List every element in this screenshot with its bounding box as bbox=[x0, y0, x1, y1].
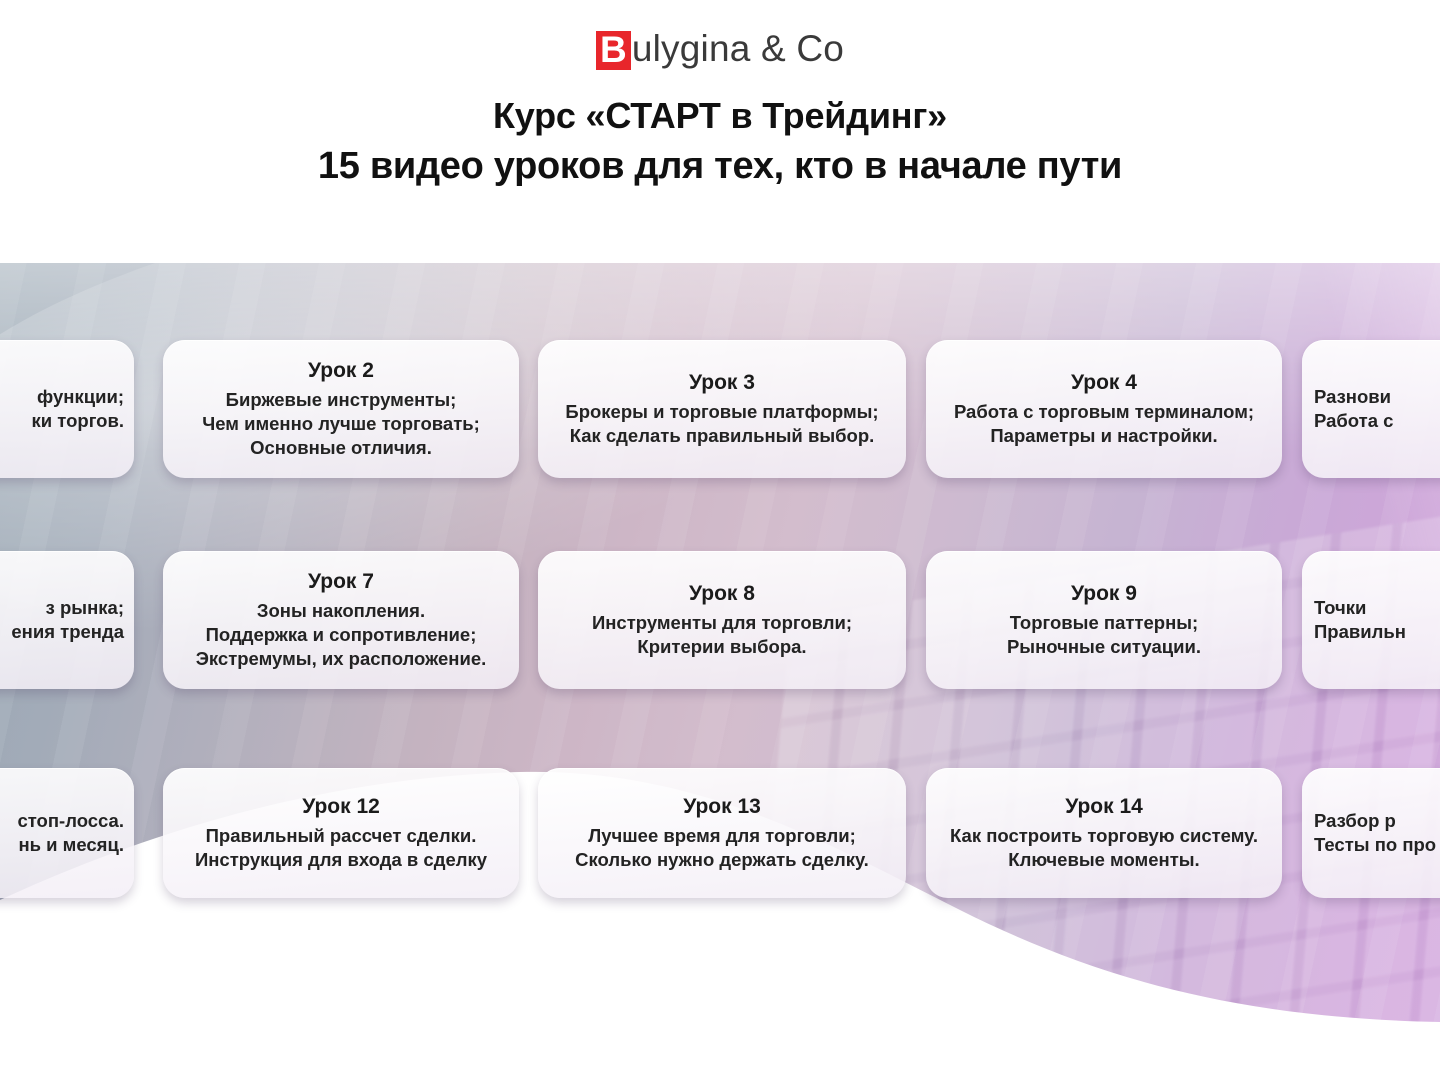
lesson-card-line: Инструкция для входа в сделку bbox=[195, 848, 487, 872]
lesson-card-line: Как сделать правильный выбор. bbox=[570, 424, 875, 448]
page-header: Bulygina & Co Курс «СТАРТ в Трейдинг» 15… bbox=[0, 0, 1440, 263]
lesson-card-title: Урок 3 bbox=[689, 370, 755, 396]
course-title: Курс «СТАРТ в Трейдинг» bbox=[0, 93, 1440, 140]
brand-name: ulygina & Co bbox=[632, 28, 844, 69]
lesson-card-line: Критерии выбора. bbox=[637, 635, 806, 659]
lesson-card[interactable]: Урок 2 Биржевые инструменты; Чем именно … bbox=[163, 340, 519, 478]
lesson-card-line: Как построить торговую систему. bbox=[950, 824, 1258, 848]
lesson-card-line: з рынка; bbox=[46, 596, 124, 620]
lesson-card[interactable]: Урок 13 Лучшее время для торговли; Сколь… bbox=[538, 768, 906, 898]
brand-logo: Bulygina & Co bbox=[596, 30, 844, 69]
lesson-card[interactable]: Урок 8 Инструменты для торговли; Критери… bbox=[538, 551, 906, 689]
lesson-card-line: ки торгов. bbox=[32, 409, 124, 433]
lesson-card-line: Поддержка и сопротивление; bbox=[206, 623, 477, 647]
lesson-card-line: Сколько нужно держать сделку. bbox=[575, 848, 869, 872]
lesson-card-grid: функции; ки торгов. Урок 2 Биржевые инст… bbox=[0, 263, 1440, 1080]
lesson-card-line: ения тренда bbox=[11, 620, 124, 644]
lesson-card-title: Урок 4 bbox=[1071, 370, 1137, 396]
lesson-card-line: Правильн bbox=[1314, 620, 1406, 644]
lesson-card[interactable]: функции; ки торгов. bbox=[0, 340, 134, 478]
lesson-card[interactable]: Урок 7 Зоны накопления. Поддержка и сопр… bbox=[163, 551, 519, 689]
lesson-card-line: Экстремумы, их расположение. bbox=[196, 647, 487, 671]
lesson-card-line: Правильный рассчет сделки. bbox=[206, 824, 477, 848]
brand-initial-badge: B bbox=[596, 31, 631, 70]
lesson-card[interactable]: Точки Правильн bbox=[1302, 551, 1440, 689]
lesson-card[interactable]: Урок 3 Брокеры и торговые платформы; Как… bbox=[538, 340, 906, 478]
lesson-card[interactable]: Урок 12 Правильный рассчет сделки. Инстр… bbox=[163, 768, 519, 898]
lesson-card-title: Урок 7 bbox=[308, 569, 374, 595]
lesson-card[interactable]: Разнови Работа с bbox=[1302, 340, 1440, 478]
lesson-card-title: Урок 13 bbox=[683, 794, 761, 820]
lesson-card-line: Рыночные ситуации. bbox=[1007, 635, 1201, 659]
lesson-card[interactable]: стоп-лосса. нь и месяц. bbox=[0, 768, 134, 898]
lesson-card-line: Основные отличия. bbox=[250, 436, 432, 460]
lesson-card-line: нь и месяц. bbox=[18, 833, 124, 857]
lesson-card[interactable]: Урок 14 Как построить торговую систему. … bbox=[926, 768, 1282, 898]
lesson-card-title: Урок 9 bbox=[1071, 581, 1137, 607]
lesson-card-line: Точки bbox=[1314, 596, 1366, 620]
lesson-card-line: Тесты по про bbox=[1314, 833, 1436, 857]
lesson-card-line: Брокеры и торговые платформы; bbox=[565, 400, 878, 424]
lesson-card[interactable]: Разбор р Тесты по про bbox=[1302, 768, 1440, 898]
lesson-card-line: Торговые паттерны; bbox=[1010, 611, 1198, 635]
lesson-card[interactable]: з рынка; ения тренда bbox=[0, 551, 134, 689]
lesson-card-line: Работа с торговым терминалом; bbox=[954, 400, 1254, 424]
lessons-banner: функции; ки торгов. Урок 2 Биржевые инст… bbox=[0, 263, 1440, 1080]
lesson-card-line: Лучшее время для торговли; bbox=[588, 824, 856, 848]
lesson-card-title: Урок 2 bbox=[308, 358, 374, 384]
lesson-card-title: Урок 8 bbox=[689, 581, 755, 607]
lesson-card-line: функции; bbox=[37, 385, 124, 409]
lesson-card-line: стоп-лосса. bbox=[17, 809, 124, 833]
lesson-card-line: Разбор р bbox=[1314, 809, 1396, 833]
lesson-card-line: Зоны накопления. bbox=[257, 599, 425, 623]
lesson-card-line: Ключевые моменты. bbox=[1008, 848, 1199, 872]
lesson-card-line: Параметры и настройки. bbox=[990, 424, 1217, 448]
lesson-card-line: Работа с bbox=[1314, 409, 1393, 433]
lesson-card-title: Урок 14 bbox=[1065, 794, 1143, 820]
lesson-card-line: Инструменты для торговли; bbox=[592, 611, 852, 635]
lesson-card[interactable]: Урок 9 Торговые паттерны; Рыночные ситуа… bbox=[926, 551, 1282, 689]
course-subtitle: 15 видео уроков для тех, кто в начале пу… bbox=[0, 142, 1440, 191]
lesson-card-line: Разнови bbox=[1314, 385, 1391, 409]
lesson-card-title: Урок 12 bbox=[302, 794, 380, 820]
lesson-card[interactable]: Урок 4 Работа с торговым терминалом; Пар… bbox=[926, 340, 1282, 478]
lesson-card-line: Биржевые инструменты; bbox=[226, 388, 457, 412]
lesson-card-line: Чем именно лучше торговать; bbox=[202, 412, 480, 436]
